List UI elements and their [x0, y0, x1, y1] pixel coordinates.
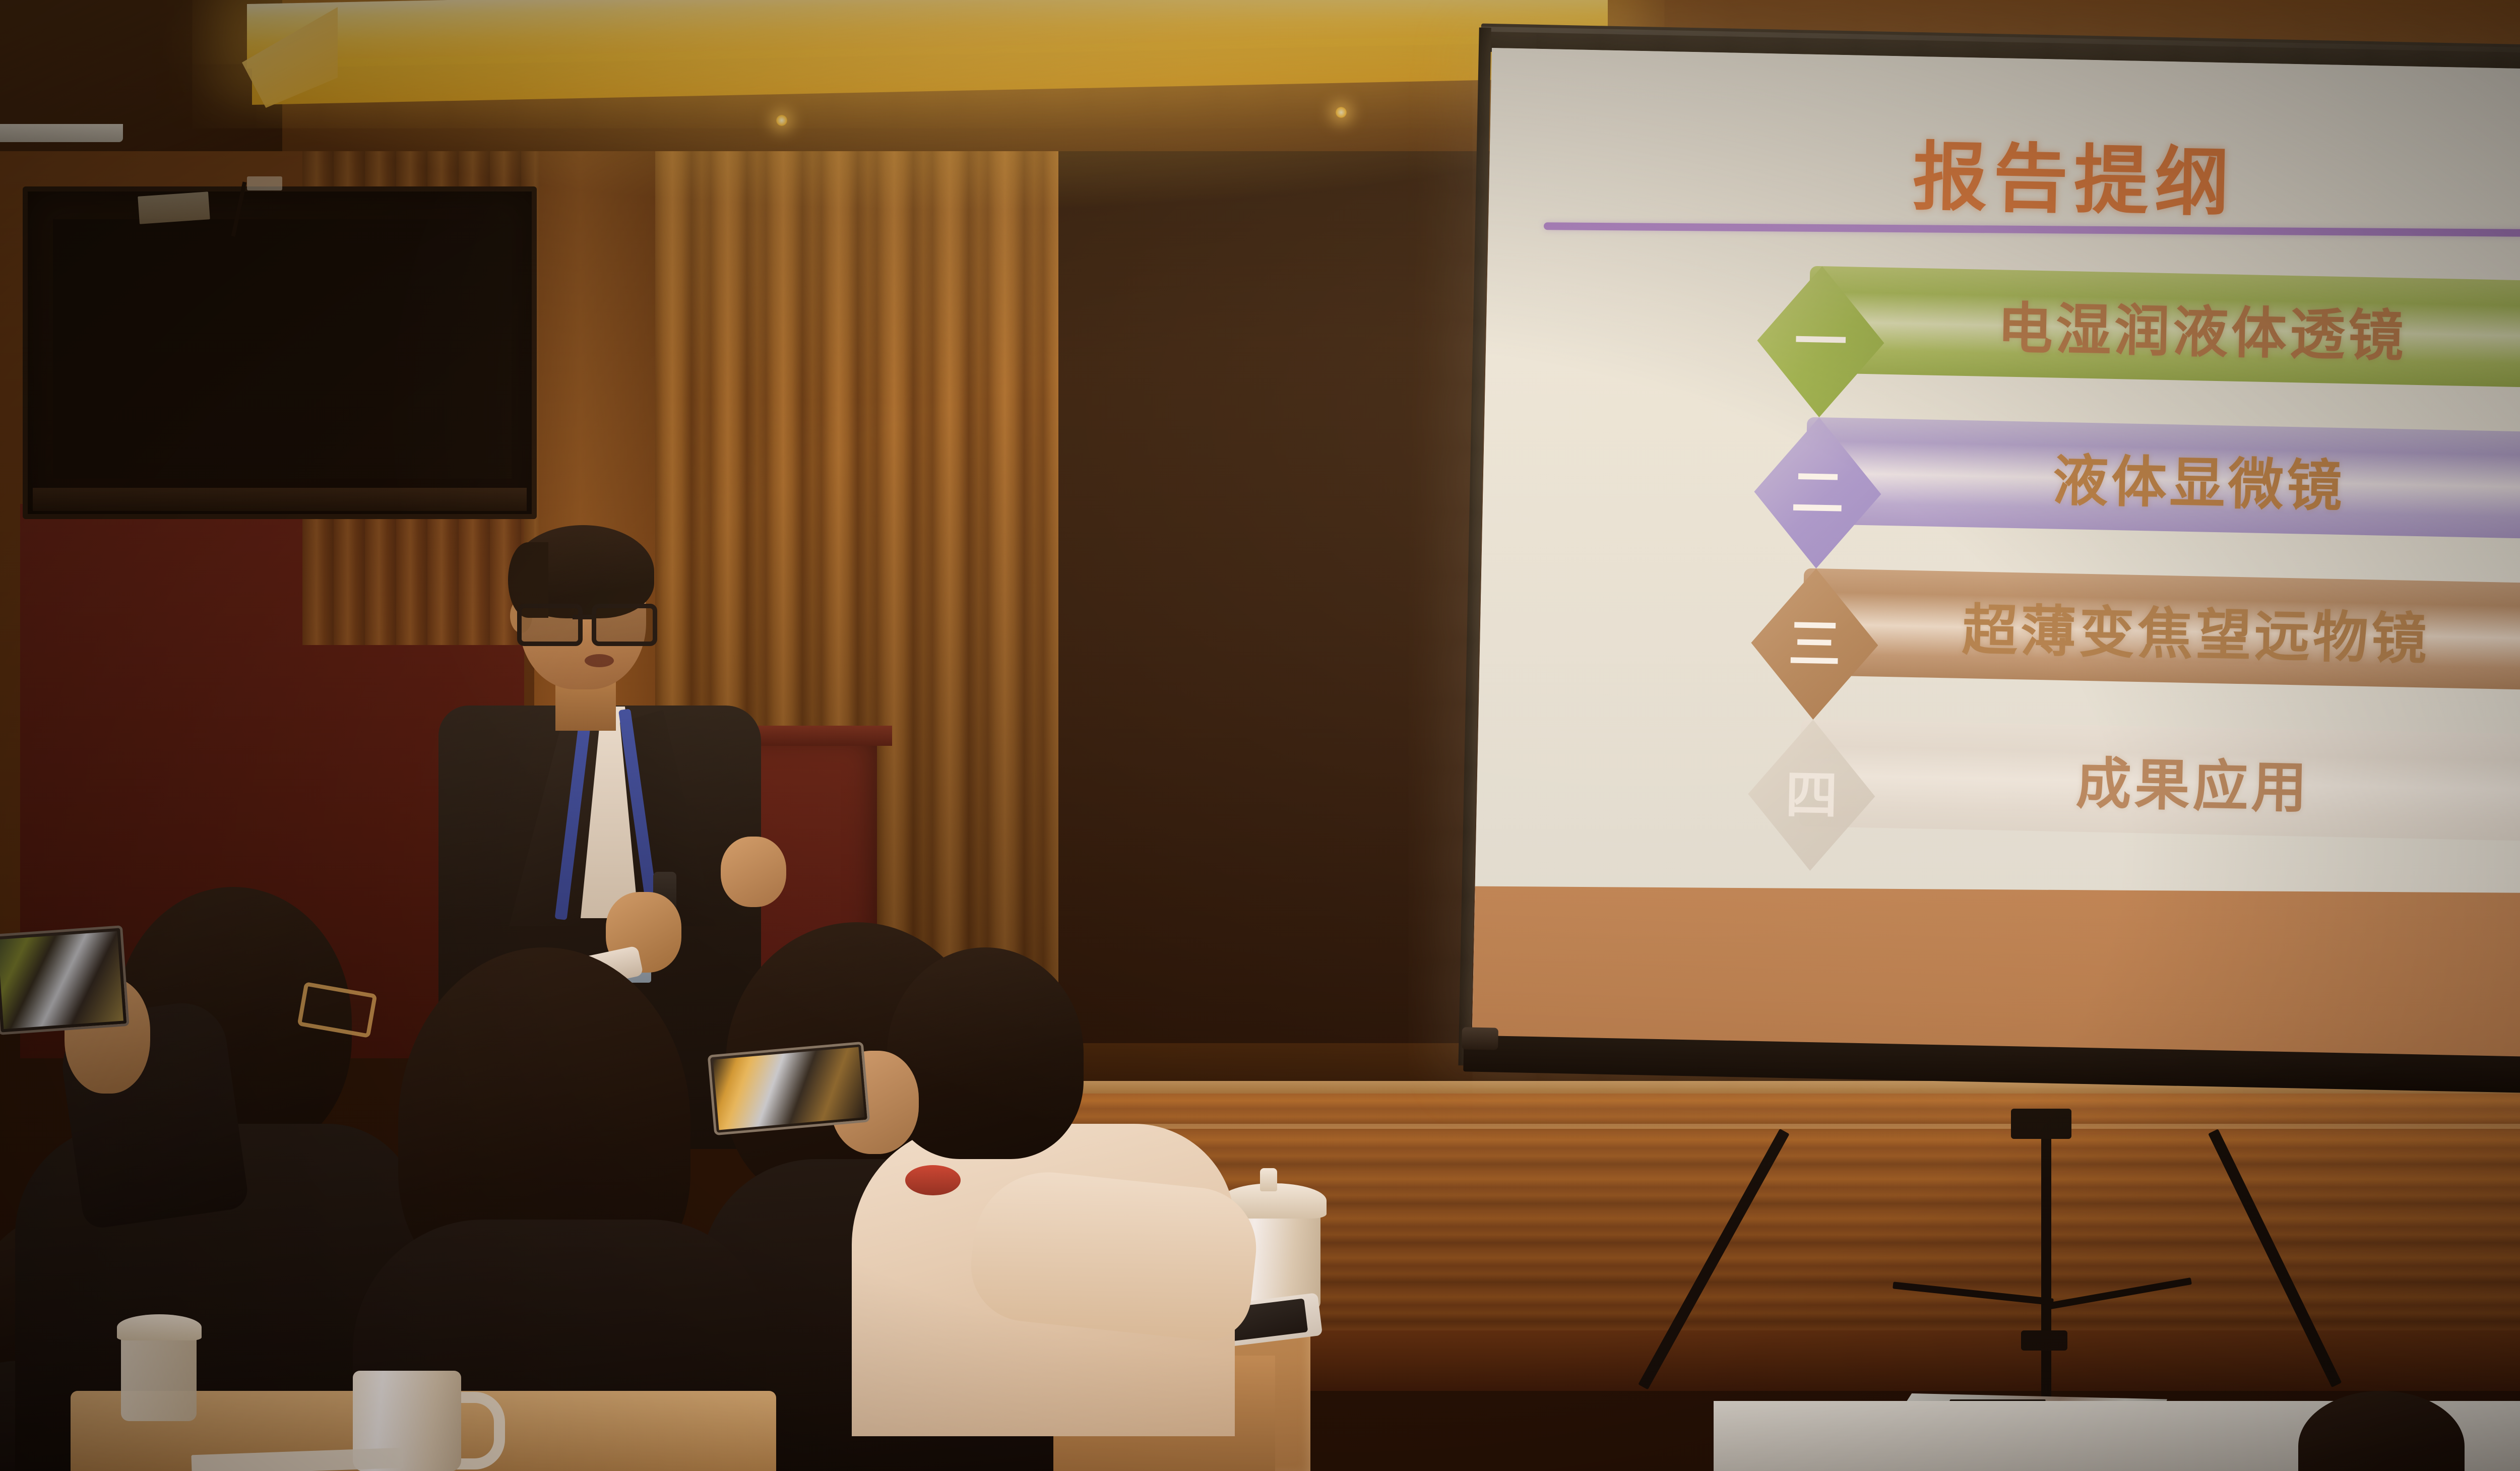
laptop-base — [0, 124, 123, 142]
audience-head-white-blouse — [887, 947, 1084, 1159]
projection-screen: 报告提纲 一 电湿润液体透镜 二 — [1470, 48, 2520, 1139]
tripod-leg-center — [2041, 1129, 2051, 1421]
slide-item-label: 液体显微镜 — [1805, 417, 2520, 540]
slide-item: 一 电湿润液体透镜 — [1485, 260, 2520, 434]
tv-mount-bracket — [247, 176, 282, 190]
downlight-icon — [1336, 107, 1347, 118]
tripod-foot-center — [2021, 1330, 2067, 1351]
audience-white-blouse-arm — [966, 1165, 1262, 1345]
tv-panel — [53, 219, 512, 479]
screen-surface: 报告提纲 一 电湿润液体透镜 二 — [1472, 48, 2520, 1079]
foreground-cup-small — [121, 1330, 197, 1421]
tv-bezel — [33, 488, 527, 511]
wall-tv — [23, 186, 537, 519]
teacup-lid-knob — [1260, 1168, 1277, 1191]
audience-smartphone-center[interactable] — [708, 1042, 870, 1135]
glasses-lens-left — [517, 604, 583, 646]
speaker-glasses-icon — [517, 604, 652, 639]
slide-title: 报告提纲 — [1488, 107, 2520, 239]
downlight-icon — [776, 115, 787, 126]
speaker-hand-gesturing — [721, 837, 786, 907]
slide-item-list: 一 电湿润液体透镜 二 液体显微镜 三 — [1475, 260, 2520, 887]
tripod-hub — [2011, 1109, 2071, 1139]
slide-item: 三 超薄变焦望远物镜 — [1479, 562, 2520, 737]
audience-smartphone-left[interactable] — [0, 925, 130, 1035]
tv-label-sticker — [138, 191, 210, 224]
foreground-cup-small-lid — [117, 1314, 202, 1340]
slide-item: 四 成果应用 — [1475, 713, 2520, 888]
audience-red-bracelet — [905, 1165, 961, 1195]
slide-item: 二 液体显微镜 — [1482, 411, 2520, 586]
glasses-lens-right — [592, 604, 657, 646]
presentation-photo-scene: 报告提纲 一 电湿润液体透镜 二 — [0, 0, 2520, 1471]
audience-smartphone-screen-center — [713, 1047, 864, 1130]
slide-item-label: 超薄变焦望远物镜 — [1802, 568, 2520, 691]
slide-item-label: 成果应用 — [1799, 720, 2520, 842]
glasses-bridge — [573, 615, 593, 619]
screen-bottom-knob — [1462, 1027, 1498, 1050]
slide: 报告提纲 一 电湿润液体透镜 二 — [1475, 48, 2520, 928]
audience-smartphone-screen-left — [0, 931, 123, 1029]
slide-item-label: 电湿润液体透镜 — [1808, 266, 2520, 389]
speaker-mouth — [585, 654, 614, 667]
